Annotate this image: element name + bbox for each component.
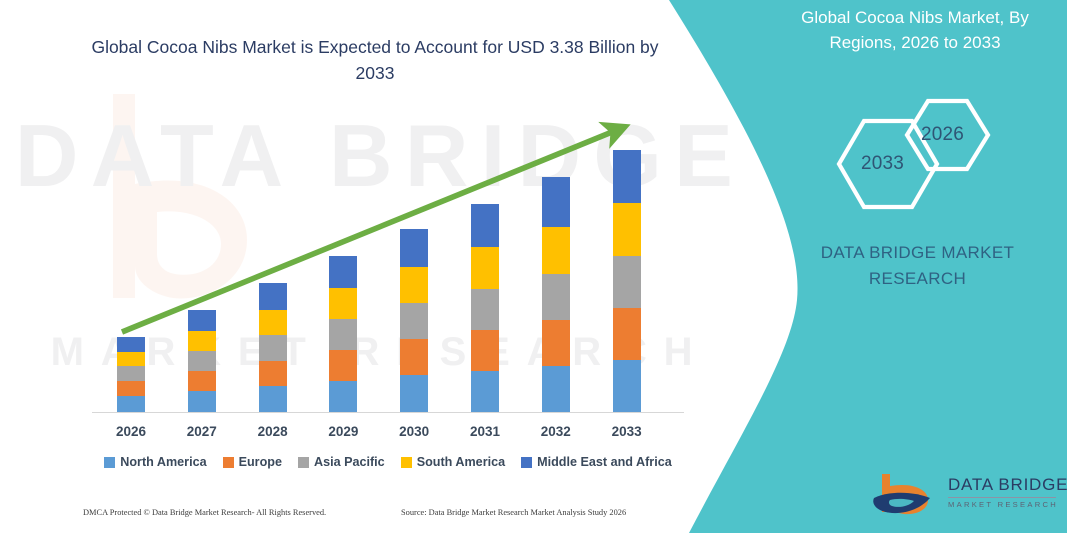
bar-2027 — [188, 310, 216, 413]
data-bridge-logo-text: DATA BRIDGE MARKET RESEARCH — [948, 475, 1067, 509]
x-axis-line — [92, 412, 684, 413]
bar-segment-south-america — [400, 267, 428, 303]
bar-segment-europe — [542, 320, 570, 366]
bar-segment-north-america — [259, 386, 287, 413]
bar-segment-middle-east-and-africa — [613, 150, 641, 203]
bar-segment-asia-pacific — [329, 319, 357, 350]
bar-segment-asia-pacific — [613, 256, 641, 308]
legend-item-asia-pacific[interactable]: Asia Pacific — [298, 455, 385, 469]
panel-brand: DATA BRIDGE MARKET RESEARCH — [790, 240, 1045, 293]
bar-2033 — [613, 150, 641, 413]
footer: DMCA Protected © Data Bridge Market Rese… — [0, 508, 700, 528]
legend-item-north-america[interactable]: North America — [104, 455, 206, 469]
bar-2032 — [542, 177, 570, 413]
bar-segment-south-america — [329, 288, 357, 319]
x-label-2026: 2026 — [101, 424, 161, 439]
x-label-2028: 2028 — [243, 424, 303, 439]
legend-label: Europe — [239, 455, 282, 469]
bar-2029 — [329, 256, 357, 413]
bar-segment-south-america — [117, 352, 145, 366]
bar-segment-north-america — [613, 360, 641, 413]
bar-segment-north-america — [117, 396, 145, 413]
bar-segment-north-america — [188, 391, 216, 413]
logo-name: DATA BRIDGE — [948, 475, 1067, 495]
bar-2026 — [117, 337, 145, 413]
bar-2031 — [471, 204, 499, 413]
x-axis-labels: 20262027202820292030203120322033 — [0, 424, 700, 446]
legend-label: Middle East and Africa — [537, 455, 672, 469]
bar-segment-europe — [259, 361, 287, 386]
legend-swatch-icon — [521, 457, 532, 468]
infographic-canvas: DATA BRIDGE MARKET RESEARCH Global Cocoa… — [0, 0, 1067, 533]
bar-segment-north-america — [542, 366, 570, 413]
bar-segment-south-america — [542, 227, 570, 274]
hexagon-shapes — [820, 95, 1050, 225]
bar-2028 — [259, 283, 287, 413]
bar-segment-europe — [117, 381, 145, 396]
x-label-2029: 2029 — [313, 424, 373, 439]
bar-segment-south-america — [259, 310, 287, 335]
chart-legend: North AmericaEuropeAsia PacificSouth Ame… — [88, 455, 688, 469]
legend-swatch-icon — [401, 457, 412, 468]
logo-divider — [948, 497, 1056, 498]
bar-segment-europe — [329, 350, 357, 381]
bar-segment-middle-east-and-africa — [400, 229, 428, 267]
legend-label: Asia Pacific — [314, 455, 385, 469]
bar-segment-middle-east-and-africa — [117, 337, 145, 352]
legend-item-europe[interactable]: Europe — [223, 455, 282, 469]
panel-title-text: Global Cocoa Nibs Market, By Regions, 20… — [801, 8, 1029, 52]
x-label-2031: 2031 — [455, 424, 515, 439]
bar-segment-middle-east-and-africa — [542, 177, 570, 227]
x-label-2033: 2033 — [597, 424, 657, 439]
hexagon-large-label: 2033 — [861, 153, 904, 175]
footer-copyright: DMCA Protected © Data Bridge Market Rese… — [83, 508, 326, 517]
chart-plot-area: 20262027202820292030203120322033 — [0, 0, 700, 420]
bar-segment-europe — [188, 371, 216, 391]
legend-item-middle-east-and-africa[interactable]: Middle East and Africa — [521, 455, 672, 469]
bar-segment-asia-pacific — [259, 335, 287, 361]
legend-swatch-icon — [104, 457, 115, 468]
legend-label: North America — [120, 455, 206, 469]
logo-tagline: MARKET RESEARCH — [948, 500, 1067, 509]
legend-swatch-icon — [223, 457, 234, 468]
bar-segment-middle-east-and-africa — [471, 204, 499, 247]
stacked-bars — [0, 0, 700, 413]
x-label-2027: 2027 — [172, 424, 232, 439]
bar-segment-europe — [400, 339, 428, 375]
bar-segment-europe — [613, 308, 641, 360]
bar-segment-asia-pacific — [400, 303, 428, 339]
bar-segment-europe — [471, 330, 499, 371]
bar-segment-north-america — [471, 371, 499, 413]
bar-segment-middle-east-and-africa — [188, 310, 216, 331]
bar-segment-north-america — [329, 381, 357, 413]
bar-segment-middle-east-and-africa — [259, 283, 287, 310]
legend-swatch-icon — [298, 457, 309, 468]
bar-segment-asia-pacific — [471, 289, 499, 330]
bar-segment-north-america — [400, 375, 428, 413]
bar-segment-asia-pacific — [188, 351, 216, 371]
x-label-2032: 2032 — [526, 424, 586, 439]
hexagon-small-label: 2026 — [921, 124, 964, 146]
bar-segment-asia-pacific — [542, 274, 570, 320]
hexagon-group: 2026 2033 — [820, 95, 1050, 225]
panel-brand-line-1: DATA BRIDGE MARKET — [790, 240, 1045, 266]
x-label-2030: 2030 — [384, 424, 444, 439]
legend-label: South America — [417, 455, 505, 469]
bar-segment-asia-pacific — [117, 366, 145, 381]
legend-item-south-america[interactable]: South America — [401, 455, 505, 469]
bar-segment-south-america — [613, 203, 641, 256]
panel-brand-line-2: RESEARCH — [790, 266, 1045, 292]
bar-2030 — [400, 229, 428, 413]
footer-source: Source: Data Bridge Market Research Mark… — [401, 508, 626, 517]
bar-segment-middle-east-and-africa — [329, 256, 357, 288]
panel-title: Global Cocoa Nibs Market, By Regions, 20… — [770, 6, 1060, 55]
bar-segment-south-america — [188, 331, 216, 351]
bar-segment-south-america — [471, 247, 499, 289]
